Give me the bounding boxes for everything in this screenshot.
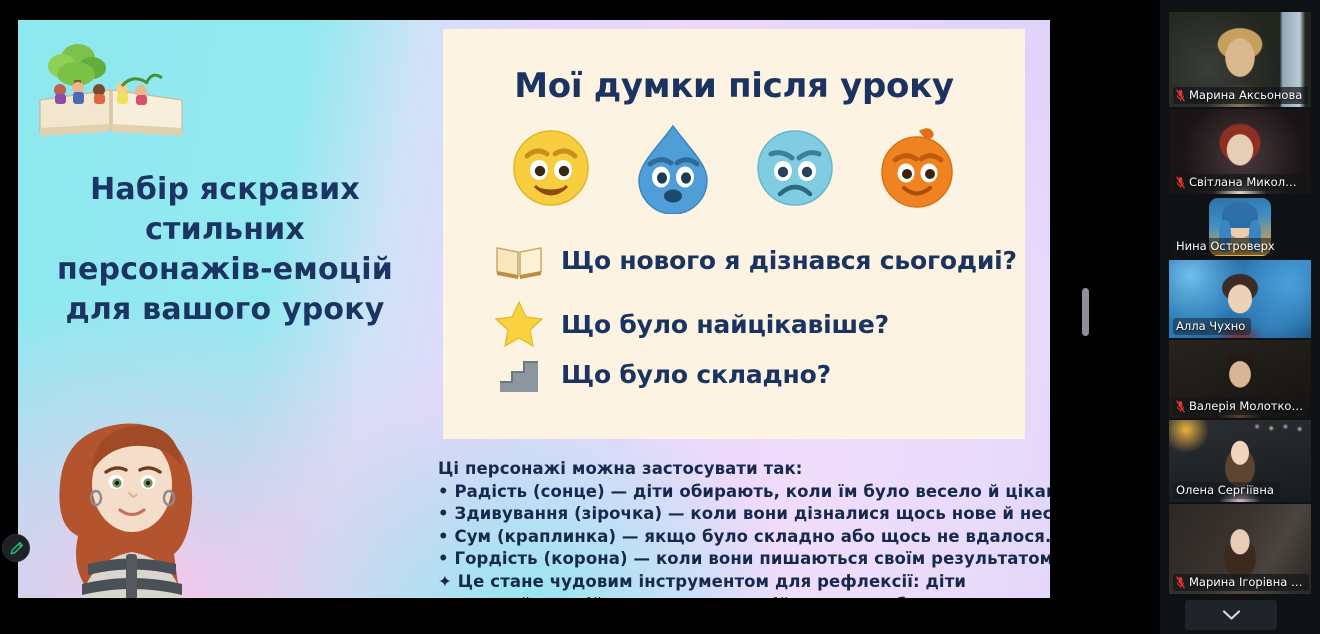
participant-tile[interactable]: Марина Ігорівна Крав… — [1169, 504, 1311, 594]
participant-tile[interactable]: Валерія Молоткова — [1169, 340, 1311, 418]
open-book-icon — [491, 236, 547, 284]
participant-tile[interactable]: Алла Чухно — [1169, 260, 1311, 338]
participant-name-badge: Марина Аксьонова — [1173, 87, 1308, 104]
chevron-down-icon — [1222, 609, 1241, 621]
participant-name-badge: Світлана Миколаївна … — [1173, 174, 1309, 191]
orange-face-emoji — [871, 122, 963, 214]
reflection-questions-list: Що нового я дізнався сьогодиі? Що було н… — [491, 236, 1025, 398]
stairs-icon — [491, 350, 547, 398]
question-item: Що нового я дізнався сьогодиі? — [491, 236, 1025, 284]
slide-content-card: Мої думки після уроку — [443, 29, 1025, 439]
participant-name-badge: Нина Островерх — [1173, 238, 1281, 255]
mic-muted-icon — [1176, 176, 1185, 189]
participant-name: Марина Ігорівна Крав… — [1189, 575, 1303, 589]
participant-name: Марина Аксьонова — [1189, 88, 1302, 102]
notes-bullet: • Гордість (корона) — коли вони пишаютьс… — [438, 548, 1038, 571]
question-text: Що нового я дізнався сьогодиі? — [561, 246, 1017, 275]
open-book-with-tree-icon — [26, 28, 201, 148]
participant-name: Світлана Миколаївна … — [1189, 175, 1303, 189]
participant-tile[interactable]: Світлана Миколаївна … — [1169, 109, 1311, 194]
question-item: Що було складно? — [491, 350, 1025, 398]
participant-tile-active-speaker[interactable]: Олена Сергіївна — [1169, 420, 1311, 502]
participant-name: Алла Чухно — [1176, 319, 1245, 333]
participant-name-badge: Марина Ігорівна Крав… — [1173, 574, 1309, 591]
notes-footer: ✦ Це стане чудовим інструментом для рефл… — [438, 571, 1038, 598]
participant-filmstrip[interactable]: Марина Аксьонова Світлана Миколаївна … — [1160, 0, 1320, 634]
mic-muted-icon — [1176, 400, 1185, 413]
participant-tile[interactable]: Марина Аксьонова — [1169, 12, 1311, 107]
filmstrip-scroll-down-button[interactable] — [1185, 600, 1277, 630]
mic-muted-icon — [1176, 576, 1185, 589]
pencil-icon — [9, 541, 24, 556]
star-icon — [491, 300, 547, 348]
participant-tile[interactable]: Нина Островерх — [1169, 196, 1311, 258]
headline-line-1: Набір яскравих — [40, 170, 410, 210]
participant-name-badge: Олена Сергіївна — [1173, 482, 1280, 499]
headline-line-3: персонажів-емоцій — [40, 250, 410, 290]
sad-face-emoji — [749, 122, 841, 214]
participant-name: Валерія Молоткова — [1189, 399, 1303, 413]
notes-bullet: • Радість (сонце) — діти обирають, коли … — [438, 481, 1038, 504]
slide-headline: Набір яскравих стильних персонажів-емоці… — [40, 170, 410, 330]
presentation-slide: Набір яскравих стильних персонажів-емоці… — [18, 20, 1050, 598]
headline-line-2: стильних — [40, 210, 410, 250]
question-text: Що було найцікавіше? — [561, 310, 889, 339]
emotion-characters-row — [443, 122, 1025, 214]
notes-bullet: • Здивування (зірочка) — коли вони дізна… — [438, 503, 1038, 526]
participant-name: Нина Островерх — [1176, 239, 1275, 253]
slide-notes: Ці персонажі можна застосувати так: • Ра… — [438, 458, 1038, 598]
participant-name-badge: Алла Чухно — [1173, 318, 1251, 335]
card-title: Мої думки після уроку — [443, 66, 1025, 106]
happy-face-emoji — [505, 122, 597, 214]
question-text: Що було складно? — [561, 360, 831, 389]
stage-scrollbar[interactable] — [1082, 288, 1089, 336]
question-item: Що було найцікавіше? — [491, 300, 1025, 348]
participant-name-badge: Валерія Молоткова — [1173, 398, 1309, 415]
shared-screen-stage[interactable]: Набір яскравих стильних персонажів-емоці… — [0, 0, 1050, 634]
participant-name: Олена Сергіївна — [1176, 483, 1274, 497]
annotate-button[interactable] — [2, 534, 30, 562]
teardrop-surprised-emoji — [627, 122, 719, 214]
mic-muted-icon — [1176, 89, 1185, 102]
meeting-window: Набір яскравих стильних персонажів-емоці… — [0, 0, 1320, 634]
notes-heading: Ці персонажі можна застосувати так: — [438, 458, 1038, 481]
notes-bullet: • Сум (краплинка) — якщо було складно аб… — [438, 526, 1038, 549]
cartoon-woman-illustration — [28, 388, 278, 598]
headline-line-4: для вашого уроку — [40, 290, 410, 330]
